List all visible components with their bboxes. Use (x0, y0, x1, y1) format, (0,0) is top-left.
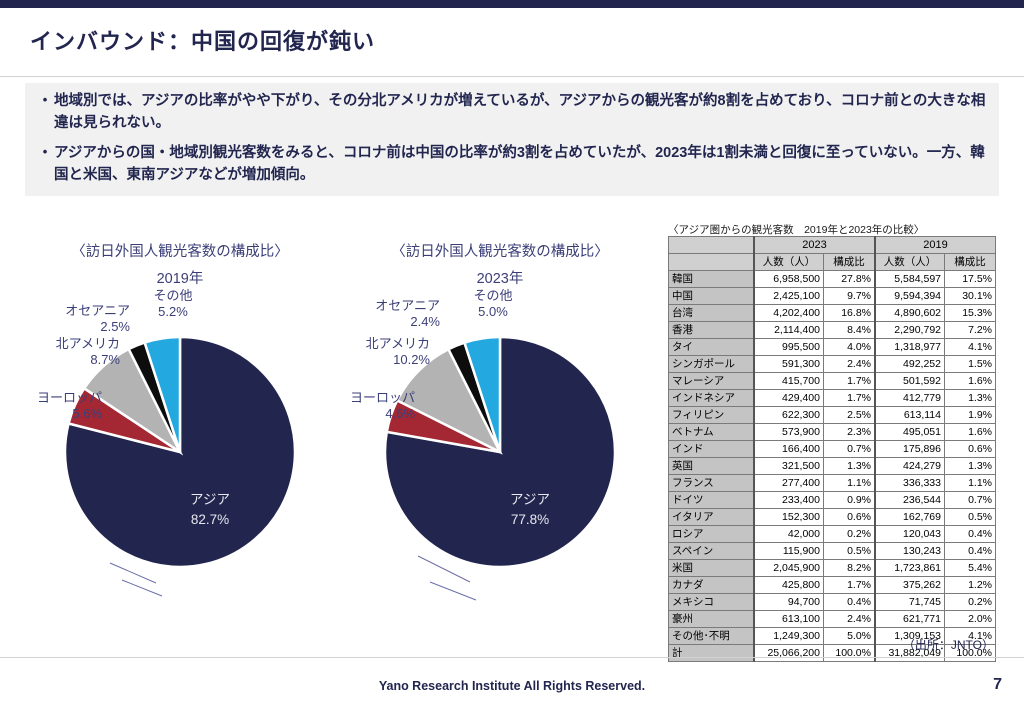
table-cell-2023-share: 1.7% (824, 373, 876, 390)
table-caption: 〈アジア圏からの観光客数 2019年と2023年の比較〉 (668, 222, 924, 237)
table-cell-2023-count: 591,300 (754, 356, 824, 373)
pie-label-asia-2019: アジア82.7% (165, 490, 255, 531)
bullet-dot-icon: • (36, 142, 54, 162)
table-cell-country: 韓国 (669, 271, 755, 288)
table-cell-2023-share: 4.0% (824, 339, 876, 356)
bullet-dot-icon: • (36, 90, 54, 110)
table-cell-country: その他･不明 (669, 628, 755, 645)
table-cell-country: タイ (669, 339, 755, 356)
table-cell-2023-count: 233,400 (754, 492, 824, 509)
table-cell-2019-share: 2.0% (945, 611, 996, 628)
list-item: • 地域別では、アジアの比率がやや下がり、その分北アメリカが増えているが、アジア… (36, 90, 991, 135)
table-cell-2023-count: 42,000 (754, 526, 824, 543)
table-cell-country: インド (669, 441, 755, 458)
table-cell-2023-share: 0.4% (824, 594, 876, 611)
table-cell-2019-share: 17.5% (945, 271, 996, 288)
table-cell-2019-count: 175,896 (875, 441, 945, 458)
top-accent-bar (0, 0, 1024, 8)
table-cell-2019-count: 130,243 (875, 543, 945, 560)
table-cell-2019-count: 336,333 (875, 475, 945, 492)
source-note: （出所：JNTO） (903, 636, 994, 653)
table-row: ロシア42,0000.2%120,0430.4% (669, 526, 996, 543)
page-number: 7 (993, 676, 1002, 694)
table-cell-2019-share: 1.5% (945, 356, 996, 373)
pie-label-asia-2023: アジア77.8% (485, 490, 575, 531)
table-cell-2019-share: 0.7% (945, 492, 996, 509)
table-cell-country: 英国 (669, 458, 755, 475)
table-cell-2023-share: 100.0% (824, 645, 876, 662)
table-cell-country: 計 (669, 645, 755, 662)
table-cell-2019-count: 120,043 (875, 526, 945, 543)
table-cell-2023-share: 0.5% (824, 543, 876, 560)
table-row: ドイツ233,4000.9%236,5440.7% (669, 492, 996, 509)
table-cell-2023-count: 2,114,400 (754, 322, 824, 339)
table-cell-2019-count: 613,114 (875, 407, 945, 424)
table-cell-country: 豪州 (669, 611, 755, 628)
table-cell-2023-count: 321,500 (754, 458, 824, 475)
table-cell-2023-share: 16.8% (824, 305, 876, 322)
table-cell-2023-count: 573,900 (754, 424, 824, 441)
table-row: インドネシア429,4001.7%412,7791.3% (669, 390, 996, 407)
table-cell-2023-count: 425,800 (754, 577, 824, 594)
table-cell-2023-count: 2,045,900 (754, 560, 824, 577)
table-row: スペイン115,9000.5%130,2430.4% (669, 543, 996, 560)
table-cell-2019-count: 4,890,602 (875, 305, 945, 322)
table-cell-2019-count: 1,318,977 (875, 339, 945, 356)
table-cell-2023-share: 0.6% (824, 509, 876, 526)
table-cell-2019-count: 5,584,597 (875, 271, 945, 288)
pie-canvas-2019: オセアニア2.5% 北アメリカ8.7% ヨーロッパ5.6% その他5.2% アジ… (10, 240, 350, 630)
table-row: マレーシア415,7001.7%501,5921.6% (669, 373, 996, 390)
table-row: ベトナム573,9002.3%495,0511.6% (669, 424, 996, 441)
table-cell-2019-share: 1.3% (945, 390, 996, 407)
list-item: • アジアからの国・地域別観光客数をみると、コロナ前は中国の比率が約3割を占めて… (36, 142, 991, 187)
footer-divider (0, 657, 1024, 658)
table-cell-2019-share: 0.6% (945, 441, 996, 458)
table-cell-country: メキシコ (669, 594, 755, 611)
table-cell-2019-share: 4.1% (945, 339, 996, 356)
table-cell-2023-share: 2.3% (824, 424, 876, 441)
table-group-2019: 2019 (875, 237, 996, 254)
comparison-table: 2023 2019 人数（人） 構成比 人数（人） 構成比 韓国6,958,50… (668, 236, 996, 662)
table-cell-2019-share: 1.6% (945, 373, 996, 390)
table-cell-2023-count: 94,700 (754, 594, 824, 611)
table-cell-2023-share: 2.4% (824, 611, 876, 628)
table-cell-country: 香港 (669, 322, 755, 339)
table-cell-2023-count: 429,400 (754, 390, 824, 407)
table-cell-2023-count: 415,700 (754, 373, 824, 390)
table-cell-country: インドネシア (669, 390, 755, 407)
table-cell-2023-count: 613,100 (754, 611, 824, 628)
table-row: フランス277,4001.1%336,3331.1% (669, 475, 996, 492)
table-cell-2023-count: 6,958,500 (754, 271, 824, 288)
table-cell-2019-share: 0.4% (945, 543, 996, 560)
table-cell-country: ベトナム (669, 424, 755, 441)
table-cell-2019-count: 9,594,394 (875, 288, 945, 305)
table-col-2023-share: 構成比 (824, 254, 876, 271)
table-cell-2019-share: 0.4% (945, 526, 996, 543)
table-cell-2023-count: 152,300 (754, 509, 824, 526)
table-corner-cell (669, 237, 755, 254)
table-cell-2019-count: 71,745 (875, 594, 945, 611)
table-group-2023: 2023 (754, 237, 875, 254)
table-cell-2019-share: 1.1% (945, 475, 996, 492)
table-row: 英国321,5001.3%424,2791.3% (669, 458, 996, 475)
table-cell-2019-count: 236,544 (875, 492, 945, 509)
table-cell-2023-share: 0.9% (824, 492, 876, 509)
table-cell-2023-count: 25,066,200 (754, 645, 824, 662)
pie-label-other-2019: その他5.2% (118, 288, 228, 321)
table-row: 台湾4,202,40016.8%4,890,60215.3% (669, 305, 996, 322)
table-cell-2019-count: 375,262 (875, 577, 945, 594)
table-row: 豪州613,1002.4%621,7712.0% (669, 611, 996, 628)
table-cell-country: カナダ (669, 577, 755, 594)
table-cell-2023-share: 1.7% (824, 390, 876, 407)
table-cell-2023-share: 1.7% (824, 577, 876, 594)
table-row: 韓国6,958,50027.8%5,584,59717.5% (669, 271, 996, 288)
table-row: メキシコ94,7000.4%71,7450.2% (669, 594, 996, 611)
table-cell-2019-share: 30.1% (945, 288, 996, 305)
table-col-2019-share: 構成比 (945, 254, 996, 271)
table-cell-2019-share: 1.6% (945, 424, 996, 441)
pie-label-northamerica-2023: 北アメリカ10.2% (330, 336, 430, 369)
table-cell-2019-count: 492,252 (875, 356, 945, 373)
table-row: インド166,4000.7%175,8960.6% (669, 441, 996, 458)
table-group-header-row: 2023 2019 (669, 237, 996, 254)
table-column-header-row: 人数（人） 構成比 人数（人） 構成比 (669, 254, 996, 271)
table-cell-2023-share: 8.2% (824, 560, 876, 577)
bullet-list: • 地域別では、アジアの比率がやや下がり、その分北アメリカが増えているが、アジア… (36, 90, 991, 194)
table-cell-2023-count: 115,900 (754, 543, 824, 560)
pie-label-europe-2019: ヨーロッパ5.6% (10, 390, 102, 423)
table-cell-country: 台湾 (669, 305, 755, 322)
table-cell-2019-count: 1,723,861 (875, 560, 945, 577)
table-cell-2023-share: 0.2% (824, 526, 876, 543)
table-cell-2023-share: 27.8% (824, 271, 876, 288)
table-row: カナダ425,8001.7%375,2621.2% (669, 577, 996, 594)
table-row: 米国2,045,9008.2%1,723,8615.4% (669, 560, 996, 577)
table-cell-2019-count: 495,051 (875, 424, 945, 441)
table-cell-country: 米国 (669, 560, 755, 577)
table-row: 中国2,425,1009.7%9,594,39430.1% (669, 288, 996, 305)
table-cell-2019-count: 424,279 (875, 458, 945, 475)
footer-copyright: Yano Research Institute All Rights Reser… (0, 679, 1024, 693)
bullet-text: 地域別では、アジアの比率がやや下がり、その分北アメリカが増えているが、アジアから… (54, 90, 991, 135)
table-cell-2023-share: 2.4% (824, 356, 876, 373)
table-cell-2023-share: 5.0% (824, 628, 876, 645)
table-cell-2023-count: 277,400 (754, 475, 824, 492)
table-col-2023-count: 人数（人） (754, 254, 824, 271)
table-cell-2019-share: 0.5% (945, 509, 996, 526)
table-cell-2023-share: 1.1% (824, 475, 876, 492)
table-body: 韓国6,958,50027.8%5,584,59717.5%中国2,425,10… (669, 271, 996, 662)
pie-label-europe-2023: ヨーロッパ4.6% (330, 390, 415, 423)
table-cell-2023-share: 8.4% (824, 322, 876, 339)
table-cell-country: フランス (669, 475, 755, 492)
pie-canvas-2023: オセアニア2.4% 北アメリカ10.2% ヨーロッパ4.6% その他5.0% ア… (330, 240, 670, 630)
table-cell-country: フィリピン (669, 407, 755, 424)
table-cell-2023-share: 1.3% (824, 458, 876, 475)
table-cell-country: マレーシア (669, 373, 755, 390)
title-divider (0, 76, 1024, 77)
table-cell-2019-share: 0.2% (945, 594, 996, 611)
pie-label-northamerica-2019: 北アメリカ8.7% (10, 336, 120, 369)
table-cell-country: シンガポール (669, 356, 755, 373)
table-cell-2019-share: 5.4% (945, 560, 996, 577)
table-cell-2019-share: 1.3% (945, 458, 996, 475)
table-cell-country: 中国 (669, 288, 755, 305)
table-cell-2023-count: 622,300 (754, 407, 824, 424)
table-row: フィリピン622,3002.5%613,1141.9% (669, 407, 996, 424)
table-row: シンガポール591,3002.4%492,2521.5% (669, 356, 996, 373)
bullet-text: アジアからの国・地域別観光客数をみると、コロナ前は中国の比率が約3割を占めていた… (54, 142, 991, 187)
table-cell-2019-share: 1.9% (945, 407, 996, 424)
table-cell-2019-count: 2,290,792 (875, 322, 945, 339)
table-cell-2023-share: 2.5% (824, 407, 876, 424)
pie-chart-2023: 〈訪日外国人観光客数の構成比〉 2023年 オセアニア2.4% 北アメリカ10.… (330, 240, 670, 288)
table-cell-2019-count: 162,769 (875, 509, 945, 526)
table-cell-2019-count: 501,592 (875, 373, 945, 390)
table-cell-2023-count: 166,400 (754, 441, 824, 458)
page-title: インバウンド：中国の回復が鈍い (30, 24, 375, 56)
table-head: 2023 2019 人数（人） 構成比 人数（人） 構成比 (669, 237, 996, 271)
table-cell-2023-count: 1,249,300 (754, 628, 824, 645)
pie-label-other-2023: その他5.0% (438, 288, 548, 321)
table-cell-2023-share: 0.7% (824, 441, 876, 458)
table-cell-2023-count: 995,500 (754, 339, 824, 356)
table-cell-2019-count: 412,779 (875, 390, 945, 407)
table-col-2019-count: 人数（人） (875, 254, 945, 271)
table-row: タイ995,5004.0%1,318,9774.1% (669, 339, 996, 356)
table-cell-2019-share: 1.2% (945, 577, 996, 594)
table-col-blank (669, 254, 755, 271)
table-row: 香港2,114,4008.4%2,290,7927.2% (669, 322, 996, 339)
pie-label-oceania-2023: オセアニア2.4% (330, 298, 440, 331)
table-cell-country: ドイツ (669, 492, 755, 509)
table-cell-country: イタリア (669, 509, 755, 526)
table-cell-2023-share: 9.7% (824, 288, 876, 305)
table-cell-2023-count: 4,202,400 (754, 305, 824, 322)
table-cell-2019-share: 7.2% (945, 322, 996, 339)
pie-label-oceania-2019: オセアニア2.5% (10, 303, 130, 336)
table-cell-country: ロシア (669, 526, 755, 543)
table-row: イタリア152,3000.6%162,7690.5% (669, 509, 996, 526)
table-cell-country: スペイン (669, 543, 755, 560)
pie-chart-2019: 〈訪日外国人観光客数の構成比〉 2019年 オセアニア2.5% 北アメリカ8.7… (10, 240, 350, 288)
table-cell-2019-share: 15.3% (945, 305, 996, 322)
table-cell-2019-count: 621,771 (875, 611, 945, 628)
table-cell-2023-count: 2,425,100 (754, 288, 824, 305)
